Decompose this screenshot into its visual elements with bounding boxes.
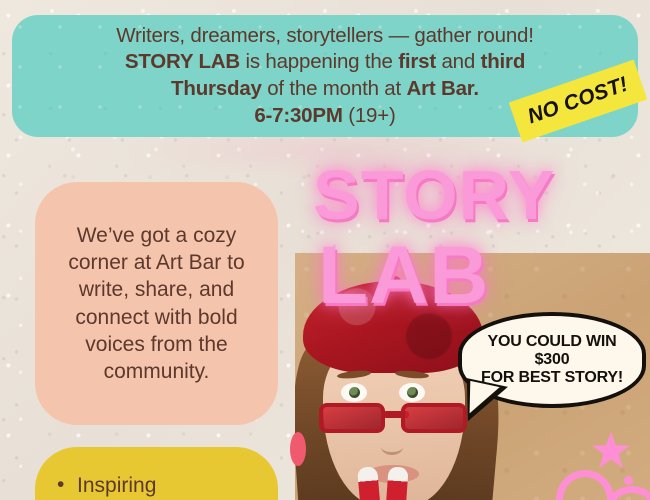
sunglass-lens-right [401, 403, 467, 433]
header-line-1: Writers, dreamers, storytellers — gather… [116, 23, 533, 50]
header-art-bar-bold: Art Bar. [406, 77, 478, 100]
header-line-4: 6-7:30PM (19+) [116, 103, 533, 130]
speech-bubble-text: YOU COULD WIN $300 FOR BEST STORY! [481, 333, 623, 388]
yellow-bullet-card: Inspiring [35, 447, 278, 500]
header-time-bold: 6-7:30PM [254, 104, 342, 127]
header-first-bold: first [398, 50, 436, 73]
nose [381, 439, 403, 455]
title-word-story: STORY [313, 163, 555, 227]
header-text-block: Writers, dreamers, storytellers — gather… [92, 23, 557, 130]
speech-bubble-tail [458, 378, 508, 428]
red-sunglasses [317, 399, 475, 439]
header-story-lab-bold: STORY LAB [125, 50, 240, 73]
yellow-card-list: Inspiring [57, 472, 262, 500]
decorative-blob [290, 432, 306, 466]
header-third-bold: third [481, 50, 526, 73]
header-age-restriction: (19+) [343, 104, 396, 127]
header-line-2: STORY LAB is happening the first and thi… [116, 49, 533, 76]
header-line-2-and: and [436, 50, 481, 73]
peach-description-card: We’ve got a cozy corner at Art Bar to wr… [35, 182, 278, 425]
list-item: Inspiring [57, 472, 262, 500]
header-line-2-mid: is happening the [240, 50, 398, 73]
peach-card-text: We’ve got a cozy corner at Art Bar to wr… [35, 222, 278, 386]
red-white-stick-2 [385, 466, 408, 500]
header-thursday-bold: Thursday [171, 77, 262, 100]
header-line-3-mid: of the month at [262, 77, 407, 100]
dot-icon [624, 476, 633, 485]
header-line-3: Thursday of the month at Art Bar. [116, 76, 533, 103]
header-line-1-text: Writers, dreamers, storytellers — gather… [116, 24, 533, 47]
title-word-lab: LAB [318, 238, 490, 313]
sunglass-lens-left [319, 403, 385, 433]
